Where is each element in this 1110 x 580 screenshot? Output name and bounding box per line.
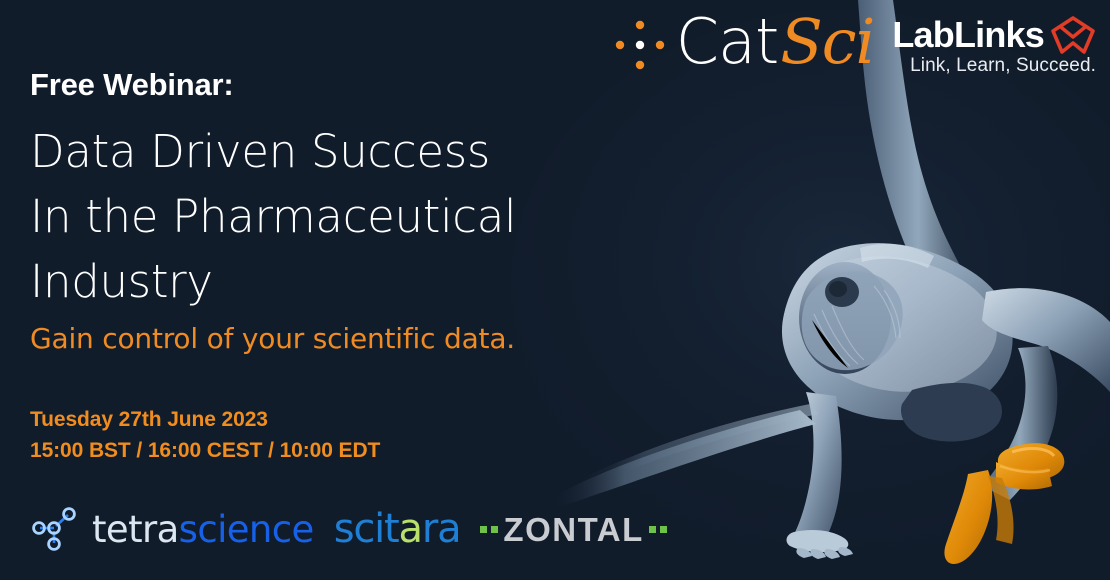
catsci-logo[interactable]: CatSci [612, 14, 875, 77]
zontal-dots-left-icon [480, 526, 498, 533]
headline-line-2: In the Pharmaceutical [30, 185, 590, 250]
logo-lockup: CatSci LabLinks Link, Learn, Succeed. [612, 8, 1096, 82]
zontal-logo[interactable]: ZONTAL [480, 513, 666, 546]
schedule-date: Tuesday 27th June 2023 [30, 404, 380, 435]
headline-line-3: Industry [30, 250, 590, 315]
catsci-wordmark-sci: Sci [780, 5, 874, 78]
tetrascience-wordmark-tetra: tetra [92, 508, 179, 551]
headline: Data Driven Success In the Pharmaceutica… [30, 120, 590, 314]
scitara-wordmark-part-two: ra [422, 506, 461, 552]
catsci-wordmark-cat: Cat [676, 5, 779, 78]
partner-logo-strip: tetrascience scitara ZONTAL [26, 500, 667, 558]
tetrascience-wordmark-science: science [179, 508, 314, 551]
eyebrow-label: Free Webinar: [30, 68, 590, 102]
lablinks-wordmark: LabLinks [892, 17, 1044, 53]
zontal-wordmark: ZONTAL [503, 513, 643, 546]
molecule-node-icon [26, 501, 82, 557]
headline-line-1: Data Driven Success [30, 120, 590, 185]
catsci-wordmark: CatSci [676, 11, 875, 74]
catsci-dots-icon [612, 17, 668, 73]
webinar-banner: CatSci LabLinks Link, Learn, Succeed. Fr… [0, 0, 1110, 580]
lablinks-chevron-mark-icon [1050, 15, 1096, 55]
tetrascience-logo[interactable]: tetrascience [26, 501, 314, 557]
lablinks-tagline: Link, Learn, Succeed. [910, 56, 1096, 75]
subheadline: Gain control of your scientific data. [30, 322, 590, 356]
zontal-dots-right-icon [649, 526, 667, 533]
copy-block: Free Webinar: Data Driven Success In the… [30, 68, 590, 356]
schedule-times: 15:00 BST / 16:00 CEST / 10:00 EDT [30, 435, 380, 466]
tetrascience-wordmark: tetrascience [92, 511, 314, 548]
lablinks-top-row: LabLinks [892, 15, 1096, 55]
schedule-block: Tuesday 27th June 2023 15:00 BST / 16:00… [30, 404, 380, 466]
scitara-accent-letter: a [399, 506, 422, 552]
lablinks-logo[interactable]: LabLinks Link, Learn, Succeed. [892, 15, 1096, 75]
scitara-wordmark-part-one: scit [334, 506, 399, 552]
scitara-logo[interactable]: scitara [334, 509, 461, 549]
